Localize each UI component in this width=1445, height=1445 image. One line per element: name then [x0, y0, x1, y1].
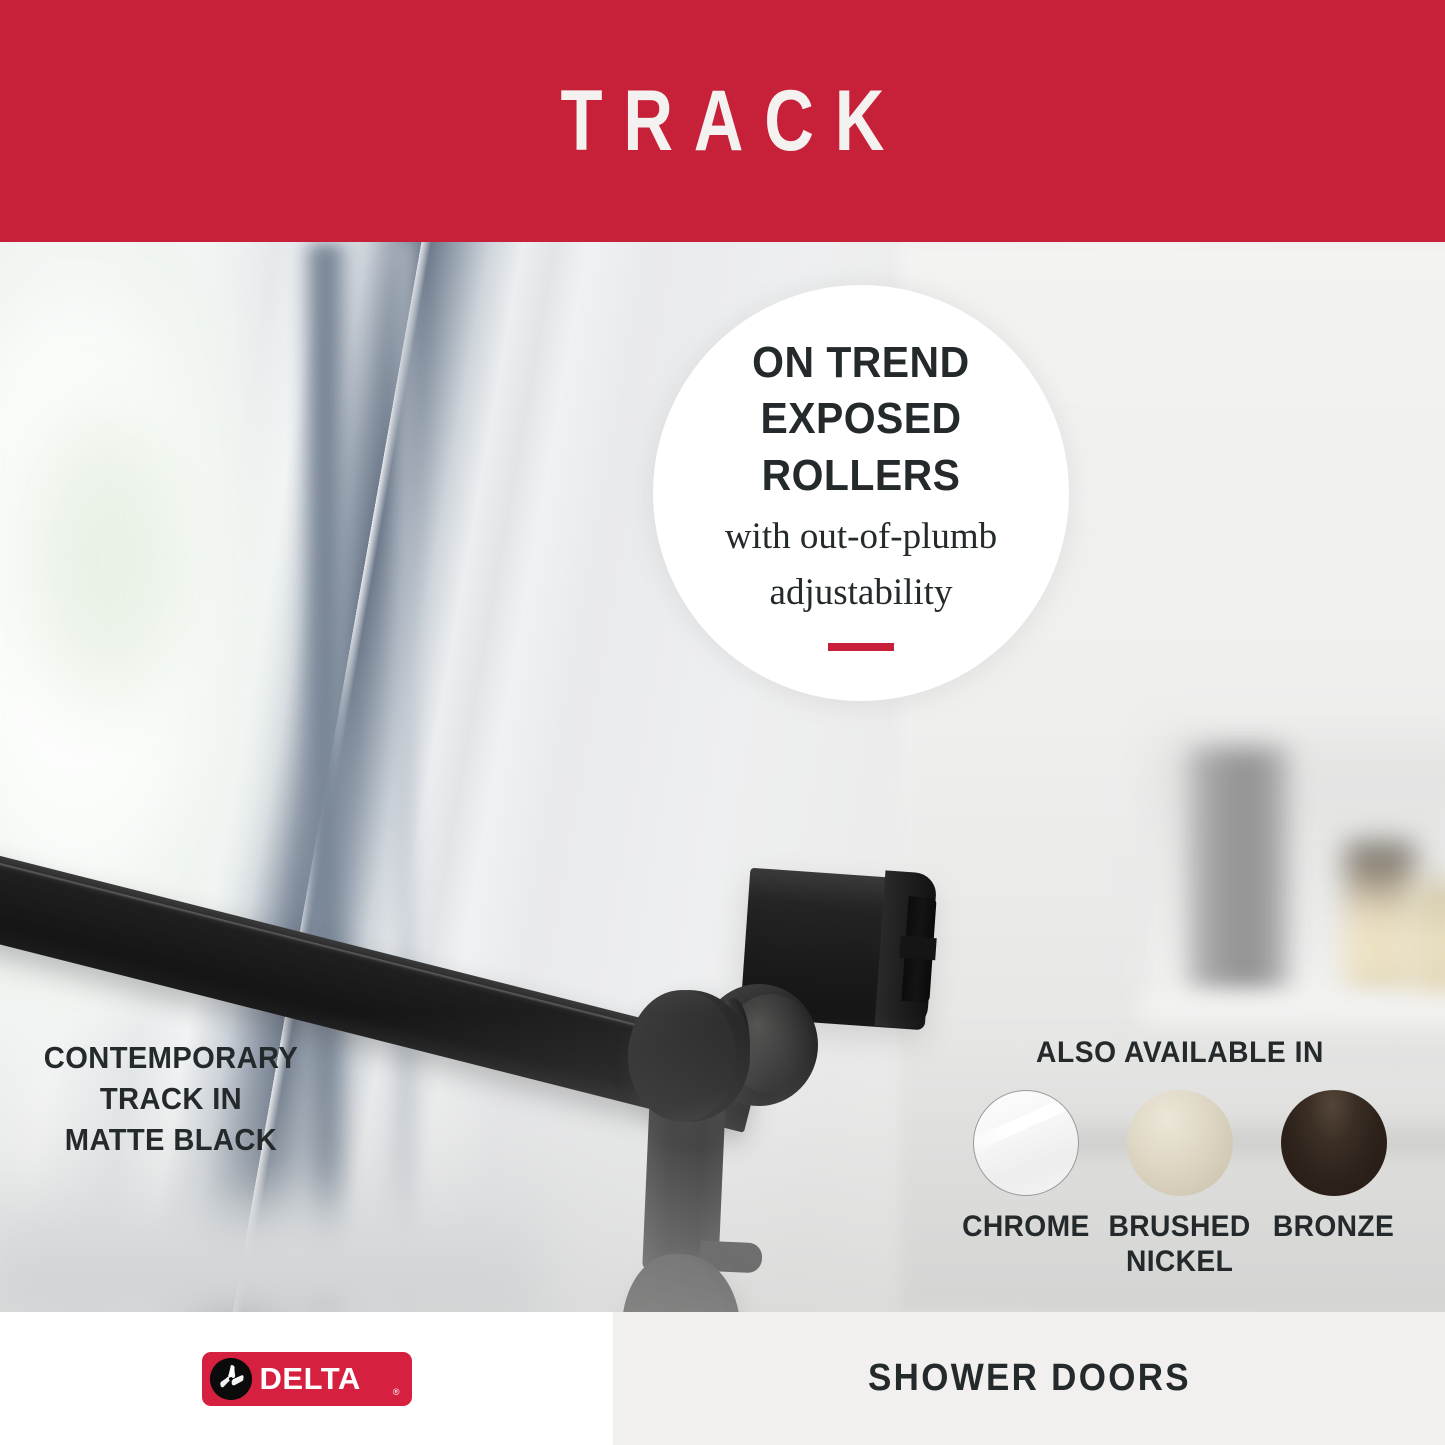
badge-subline-2: adjustability — [770, 569, 953, 616]
product-caption-line2: TRACK IN — [38, 1078, 303, 1119]
delta-logo[interactable]: DELTA ® — [202, 1352, 412, 1406]
product-caption-line3: MATTE BLACK — [38, 1119, 303, 1160]
footer-right-panel: SHOWER DOORS — [613, 1312, 1445, 1445]
delta-triangle-icon — [210, 1358, 252, 1400]
finish-option-bronze[interactable]: BRONZE — [1270, 1090, 1398, 1280]
footer-tagline: SHOWER DOORS — [868, 1357, 1191, 1400]
bronze-label: BRONZE — [1273, 1209, 1394, 1244]
delta-emblem-icon — [210, 1358, 252, 1400]
brushed-nickel-label: BRUSHED NICKEL — [1109, 1209, 1251, 1280]
footer-left-panel: DELTA ® — [0, 1312, 613, 1445]
finish-option-chrome[interactable]: CHROME — [962, 1090, 1090, 1280]
badge-headline-line1: ON TREND — [752, 335, 969, 391]
badge-subline-1: with out-of-plumb — [725, 513, 997, 560]
badge-accent-rule — [828, 643, 894, 651]
finish-options-title: ALSO AVAILABLE IN — [973, 1036, 1387, 1070]
finish-option-brushed-nickel[interactable]: BRUSHED NICKEL — [1116, 1090, 1244, 1280]
product-caption-line1: CONTEMPORARY — [38, 1037, 303, 1078]
swatch-row: CHROME BRUSHED NICKEL BRONZE — [960, 1090, 1400, 1280]
chrome-swatch[interactable] — [973, 1090, 1079, 1196]
product-caption: CONTEMPORARY TRACK IN MATTE BLACK — [38, 1037, 303, 1161]
badge-headline-line2: EXPOSED ROLLERS — [668, 391, 1055, 504]
registered-mark: ® — [393, 1387, 400, 1397]
chrome-label-line1: CHROME — [962, 1209, 1090, 1244]
feature-callout-badge: ON TREND EXPOSED ROLLERS with out-of-plu… — [653, 285, 1069, 701]
finish-options: ALSO AVAILABLE IN CHROME BRUSHED NICKEL … — [960, 1036, 1400, 1280]
bronze-label-line1: BRONZE — [1273, 1209, 1394, 1244]
brushed-nickel-label-line2: NICKEL — [1109, 1244, 1251, 1279]
chrome-label: CHROME — [962, 1209, 1090, 1244]
brushed-nickel-label-line1: BRUSHED — [1109, 1209, 1251, 1244]
delta-wordmark: DELTA — [260, 1363, 361, 1394]
product-feature-graphic: TRACK — [0, 0, 1445, 1445]
header-banner: TRACK — [0, 0, 1445, 242]
brushed-nickel-swatch[interactable] — [1127, 1090, 1233, 1196]
footer: DELTA ® SHOWER DOORS — [0, 1312, 1445, 1445]
page-title: TRACK — [540, 78, 906, 164]
bronze-swatch[interactable] — [1281, 1090, 1387, 1196]
